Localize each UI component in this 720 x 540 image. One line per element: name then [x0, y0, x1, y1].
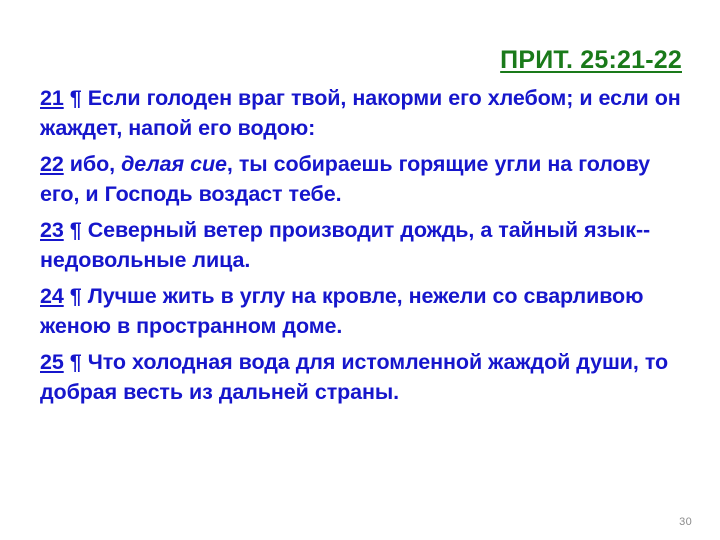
page-title-text: ПРИТ. 25:21-22 — [500, 46, 682, 74]
verse-number: 24 — [40, 284, 64, 308]
verse-text: Северный ветер производит дождь, а тайны… — [40, 218, 650, 272]
pilcrow-icon: ¶ — [70, 86, 82, 110]
verse-italic-text: делая сие — [121, 152, 227, 176]
verse-list: 21 ¶ Если голоден враг твой, накорми его… — [40, 84, 685, 407]
verse-number: 22 — [40, 152, 64, 176]
page-number: 30 — [679, 516, 692, 528]
verse-text: Что холодная вода для истомленной жаждой… — [40, 350, 668, 404]
verse-number: 25 — [40, 350, 64, 374]
verse-text: Лучше жить в углу на кровле, нежели со с… — [40, 284, 643, 338]
slide-canvas: ПРИТ. 25:21-22 21 ¶ Если голоден враг тв… — [0, 0, 720, 540]
pilcrow-icon: ¶ — [70, 350, 82, 374]
verse-item: 25 ¶ Что холодная вода для истомленной ж… — [40, 348, 685, 407]
verse-item: 23 ¶ Северный ветер производит дождь, а … — [40, 216, 685, 275]
pilcrow-icon: ¶ — [70, 218, 82, 242]
verse-number: 23 — [40, 218, 64, 242]
page-title: ПРИТ. 25:21-22 — [40, 46, 682, 74]
verse-item: 21 ¶ Если голоден враг твой, накорми его… — [40, 84, 685, 143]
verse-text: ибо, — [70, 152, 121, 176]
verse-item: 24 ¶ Лучше жить в углу на кровле, нежели… — [40, 282, 685, 341]
verse-text: Если голоден враг твой, накорми его хлеб… — [40, 86, 681, 140]
verse-number: 21 — [40, 86, 64, 110]
pilcrow-icon: ¶ — [70, 284, 82, 308]
verse-item: 22 ибо, делая сие, ты собираешь горящие … — [40, 150, 685, 209]
